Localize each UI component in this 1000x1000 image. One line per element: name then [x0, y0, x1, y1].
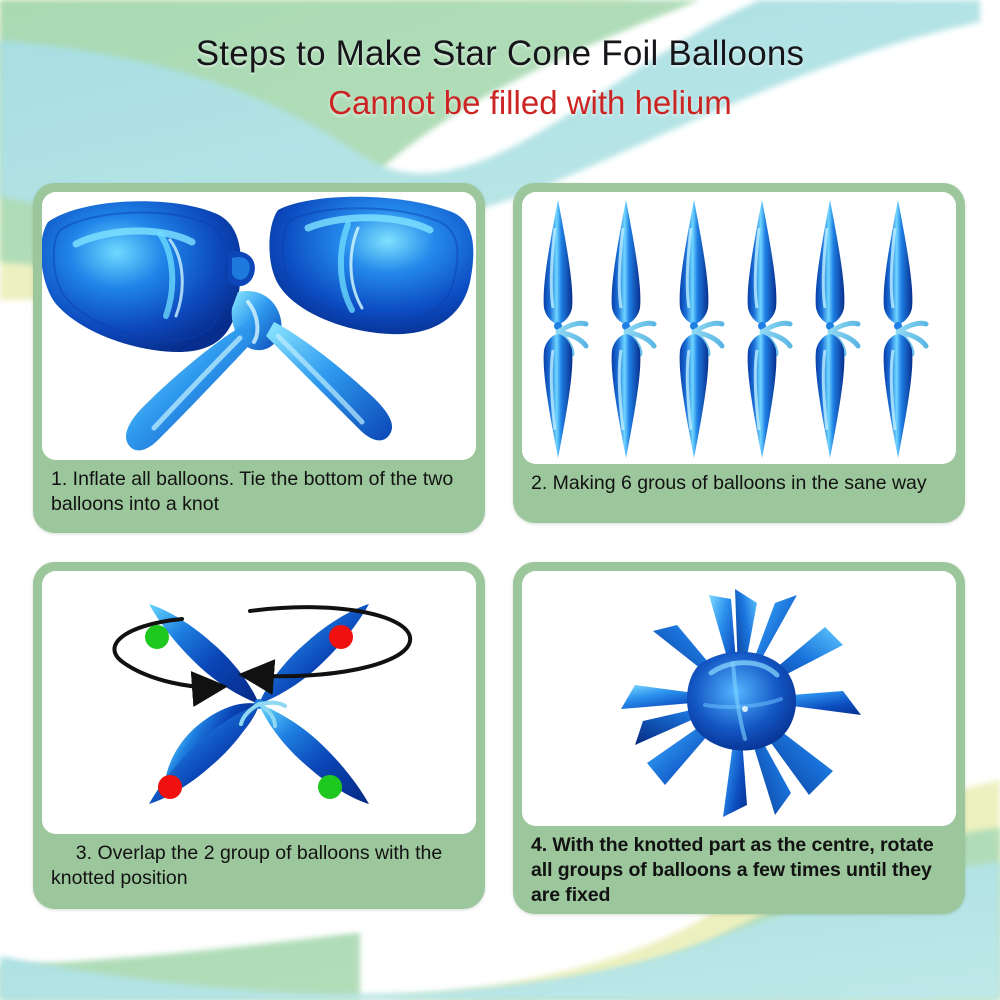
- step-3-photo: [42, 571, 476, 834]
- poster-header: Steps to Make Star Cone Foil Balloons Ca…: [0, 0, 1000, 120]
- six-balloon-pairs-illustration: [522, 192, 956, 464]
- step-3-caption-line2: knotted position: [51, 866, 467, 891]
- finished-star-cone-balloon-illustration: [522, 571, 956, 826]
- step-3-caption-line1: 3. Overlap the 2 group of balloons with …: [76, 842, 442, 864]
- step-2-caption: 2. Making 6 grous of balloons in the san…: [522, 464, 956, 514]
- step-4-caption-line2: all groups of balloons a few times until…: [531, 859, 932, 881]
- poster-canvas: Steps to Make Star Cone Foil Balloons Ca…: [0, 0, 1000, 1000]
- page-title: Steps to Make Star Cone Foil Balloons: [0, 0, 1000, 73]
- marker-green-lower: [318, 775, 342, 799]
- step-card-3[interactable]: 3. Overlap the 2 group of balloons with …: [33, 562, 485, 909]
- step-3-caption: 3. Overlap the 2 group of balloons with …: [42, 834, 476, 900]
- step-1-caption-line2: balloons into a knot: [51, 493, 219, 515]
- warning-subtitle: Cannot be filled with helium: [0, 73, 1000, 121]
- step-card-2[interactable]: 2. Making 6 grous of balloons in the san…: [513, 183, 965, 523]
- x-formation-rotation-illustration: [42, 571, 476, 834]
- marker-red-lower: [158, 775, 182, 799]
- step-4-caption-line3: are fixed: [531, 884, 610, 906]
- step-2-photo: [522, 192, 956, 464]
- step-4-caption-line1: 4. With the knotted part as the centre, …: [531, 834, 934, 856]
- step-1-caption: 1. Inflate all balloons. Tie the bottom …: [42, 460, 476, 524]
- step-card-1[interactable]: 1. Inflate all balloons. Tie the bottom …: [33, 183, 485, 533]
- steps-grid: 1. Inflate all balloons. Tie the bottom …: [0, 0, 1000, 1000]
- step-2-caption-line1: 2. Making 6 grous of balloons in the san…: [531, 472, 927, 494]
- step-card-4[interactable]: 4. With the knotted part as the centre, …: [513, 562, 965, 914]
- marker-green-upper: [145, 625, 169, 649]
- step-1-photo: [42, 192, 476, 460]
- step-4-caption: 4. With the knotted part as the centre, …: [522, 826, 956, 912]
- step-1-caption-line1: 1. Inflate all balloons. Tie the bottom …: [51, 468, 453, 490]
- two-balloons-knot-illustration: [42, 192, 476, 460]
- step-4-photo: [522, 571, 956, 826]
- marker-red-upper: [329, 625, 353, 649]
